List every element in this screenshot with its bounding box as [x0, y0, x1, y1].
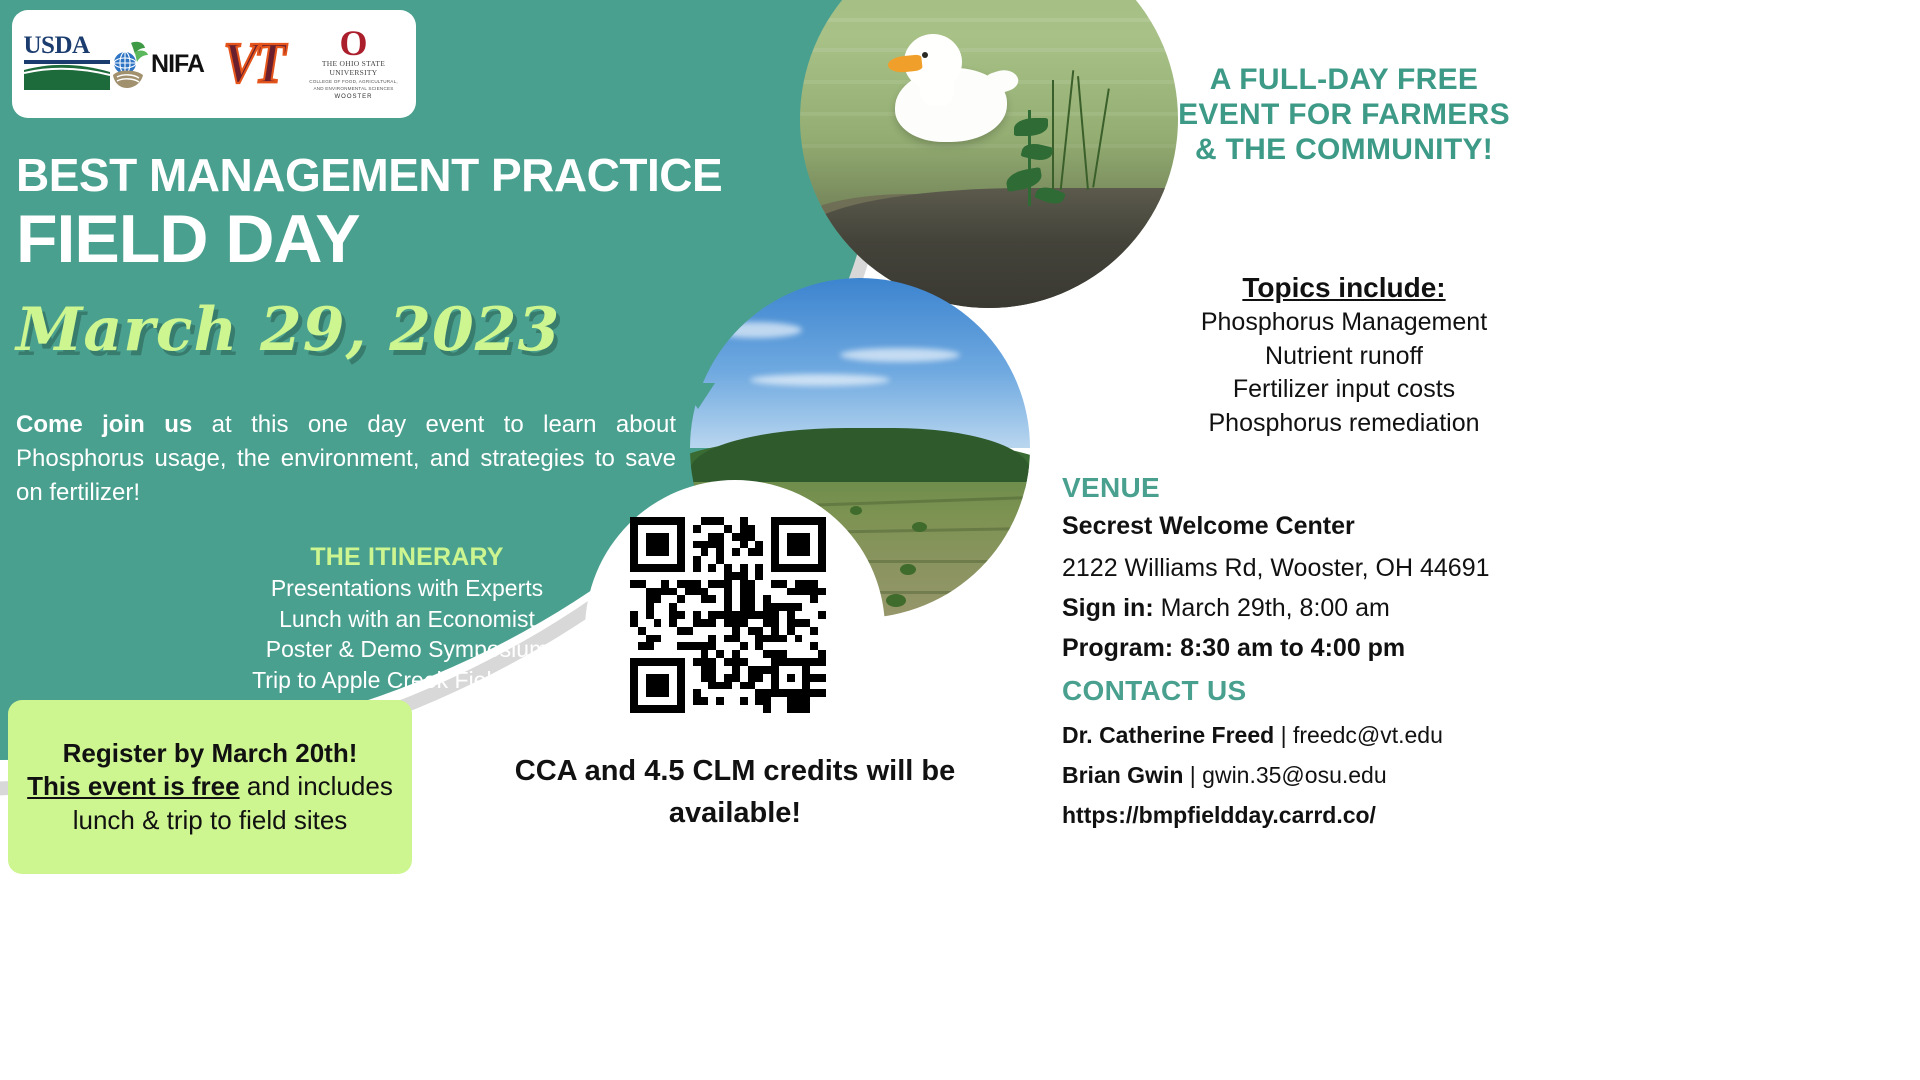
- intro-paragraph-bold: Come join us: [16, 411, 192, 438]
- itinerary-item: Trip to Apple Creek Field Sites: [202, 665, 612, 696]
- cca-credits-note: CCA and 4.5 CLM credits will be availabl…: [455, 750, 1015, 834]
- ohio-state-logo: O THE OHIO STATE UNIVERSITY COLLEGE OF F…: [302, 28, 406, 100]
- duck-in-pond-photo: [800, 0, 1178, 308]
- register-callout-box: Register by March 20th! This event is fr…: [8, 700, 412, 874]
- nifa-logo: NIFA: [112, 39, 204, 89]
- topic-item: Nutrient runoff: [1146, 340, 1536, 374]
- event-headline: A FULL-DAY FREE EVENT FOR FARMERS & THE …: [1166, 62, 1522, 167]
- itinerary-item: Presentations with Experts: [202, 573, 612, 604]
- osu-line3: COLLEGE OF FOOD, AGRICULTURAL,: [309, 79, 398, 85]
- contact-1-email[interactable]: | freedc@vt.edu: [1274, 722, 1443, 748]
- topic-item: Fertilizer input costs: [1146, 373, 1536, 407]
- usda-field-graphic: [24, 60, 110, 90]
- contact-2-email[interactable]: | gwin.35@osu.edu: [1183, 762, 1386, 788]
- topic-item: Phosphorus Management: [1146, 306, 1536, 340]
- topics-list: Phosphorus Management Nutrient runoff Fe…: [1146, 306, 1536, 440]
- nifa-globe-leaf-icon: [111, 39, 151, 89]
- event-website-link[interactable]: https://bmpfieldday.carrd.co/: [1062, 802, 1376, 829]
- sponsor-logo-bar: USDA: [12, 10, 416, 118]
- nifa-wordmark: NIFA: [151, 52, 204, 77]
- itinerary-item: Lunch with an Economist: [202, 604, 612, 635]
- register-deadline: Register by March 20th!: [63, 738, 358, 768]
- usda-wordmark: USDA: [24, 33, 110, 58]
- register-free-label: This event is free: [27, 771, 239, 801]
- poster-canvas: USDA: [0, 0, 1536, 882]
- signin-value: March 29th, 8:00 am: [1154, 594, 1390, 622]
- contact-person-1: Dr. Catherine Freed | freedc@vt.edu: [1062, 722, 1443, 749]
- usda-logo: USDA: [23, 33, 111, 95]
- venue-heading: VENUE: [1062, 472, 1160, 504]
- signin-label: Sign in:: [1062, 594, 1154, 622]
- virginia-tech-logo: VT: [205, 38, 301, 90]
- qr-code[interactable]: [630, 517, 826, 713]
- itinerary-list: Presentations with Experts Lunch with an…: [202, 573, 612, 695]
- osu-line2: UNIVERSITY: [330, 69, 378, 78]
- itinerary-heading: THE ITINERARY: [232, 543, 582, 572]
- poster-title-line2: FIELD DAY: [16, 205, 360, 273]
- teal-triangle-decoration: [681, 383, 715, 409]
- contact-heading: CONTACT US: [1062, 675, 1246, 707]
- poster-title-line1: BEST MANAGEMENT PRACTICE: [16, 152, 722, 198]
- itinerary-item: Poster & Demo Symposium: [202, 634, 612, 665]
- intro-paragraph: Come join us at this one day event to le…: [16, 408, 676, 510]
- program-time: Program: 8:30 am to 4:00 pm: [1062, 634, 1405, 663]
- osu-line5: WOOSTER: [335, 94, 373, 100]
- vt-wordmark: VT: [223, 35, 281, 93]
- osu-line1: THE OHIO STATE: [322, 60, 385, 69]
- venue-name: Secrest Welcome Center: [1062, 512, 1355, 541]
- signin-row: Sign in: March 29th, 8:00 am: [1062, 594, 1390, 623]
- contact-2-name: Brian Gwin: [1062, 762, 1183, 788]
- venue-address: 2122 Williams Rd, Wooster, OH 44691: [1062, 554, 1490, 583]
- event-date: March 29, 2023: [16, 300, 560, 360]
- contact-1-name: Dr. Catherine Freed: [1062, 722, 1274, 748]
- osu-block-o-icon: O: [339, 28, 367, 59]
- contact-person-2: Brian Gwin | gwin.35@osu.edu: [1062, 762, 1387, 789]
- topics-heading: Topics include:: [1166, 272, 1522, 304]
- topic-item: Phosphorus remediation: [1146, 407, 1536, 441]
- osu-line4: AND ENVIRONMENTAL SCIENCES: [314, 86, 394, 92]
